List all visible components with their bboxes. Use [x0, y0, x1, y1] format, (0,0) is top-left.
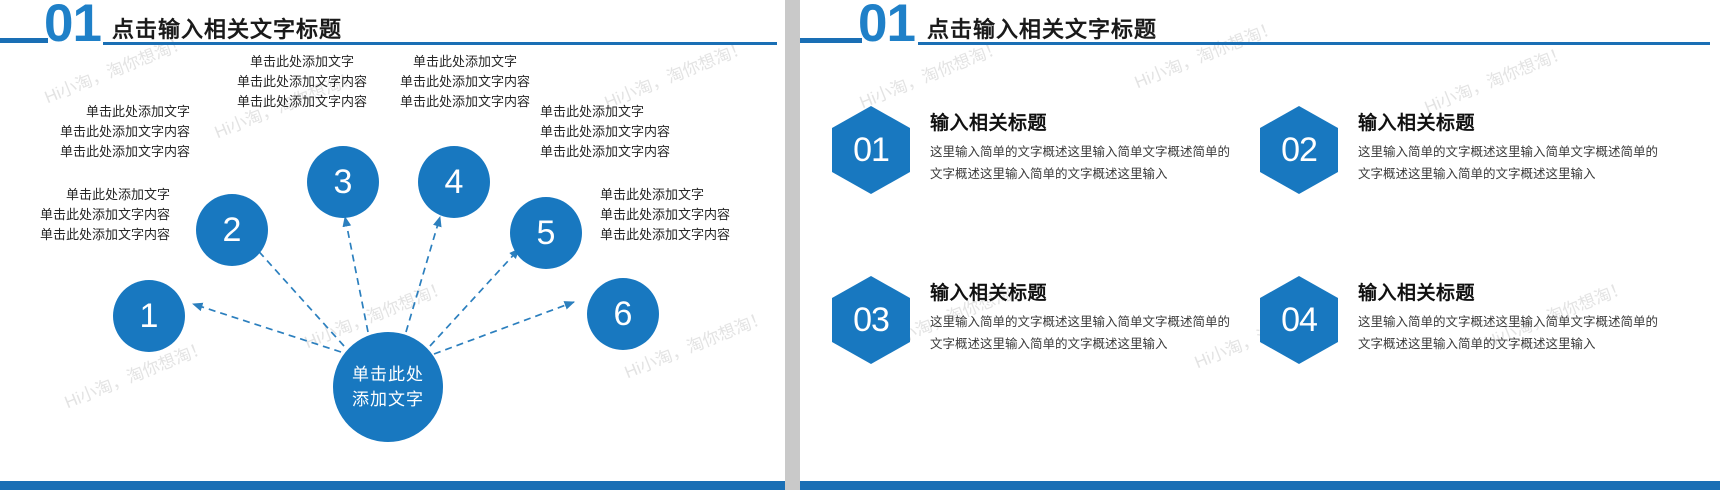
header-dash-icon	[800, 38, 862, 43]
feature-text: 这里输入简单的文字概述这里输入简单文字概述简单的文字概述这里输入简单的文字概述这…	[930, 142, 1240, 186]
diagram-label-5: 单击此处添加文字 单击此处添加文字内容 单击此处添加文字内容	[540, 102, 730, 162]
slide-gutter	[785, 0, 800, 490]
header-rule	[103, 42, 777, 45]
feature-body: 输入相关标题 这里输入简单的文字概述这里输入简单文字概述简单的文字概述这里输入简…	[1358, 108, 1668, 186]
diagram-label-6: 单击此处添加文字 单击此处添加文字内容 单击此处添加文字内容	[600, 185, 785, 245]
label-line-2: 单击此处添加文字内容	[600, 205, 785, 225]
label-line-3: 单击此处添加文字内容	[600, 225, 785, 245]
diagram-hub[interactable]: 单击此处 添加文字	[333, 332, 443, 442]
hexagon-badge: 02	[1260, 106, 1338, 194]
header-rule	[918, 42, 1710, 45]
label-title: 单击此处添加文字	[222, 52, 382, 72]
slide-header: 01 点击输入相关文字标题	[800, 0, 1720, 52]
hub-line-1: 单击此处	[352, 362, 424, 388]
label-line-3: 单击此处添加文字内容	[0, 225, 170, 245]
page-title: 点击输入相关文字标题	[112, 12, 342, 44]
feature-text: 这里输入简单的文字概述这里输入简单文字概述简单的文字概述这里输入简单的文字概述这…	[1358, 142, 1668, 186]
feature-title: 输入相关标题	[1358, 108, 1668, 135]
diagram-node-2[interactable]: 2	[196, 194, 268, 266]
hub-line-2: 添加文字	[352, 387, 424, 413]
slide-deck: Hi小淘，淘你想淘！ Hi小淘，淘你想淘！ Hi小淘，淘你想淘！ Hi小淘，淘你…	[0, 0, 1720, 490]
feature-title: 输入相关标题	[930, 278, 1240, 305]
label-line-3: 单击此处添加文字内容	[10, 142, 190, 162]
feature-text: 这里输入简单的文字概述这里输入简单文字概述简单的文字概述这里输入简单的文字概述这…	[930, 312, 1240, 356]
page-title: 点击输入相关文字标题	[927, 12, 1157, 44]
radial-diagram: 单击此处 添加文字 1 2 3 4 5 6 单击此处添加文字 单击此处添加文字内…	[0, 52, 785, 482]
label-line-2: 单击此处添加文字内容	[385, 72, 545, 92]
diagram-node-4[interactable]: 4	[418, 146, 490, 218]
header-dash-icon	[0, 38, 48, 43]
feature-text: 这里输入简单的文字概述这里输入简单文字概述简单的文字概述这里输入简单的文字概述这…	[1358, 312, 1668, 356]
label-line-2: 单击此处添加文字内容	[10, 122, 190, 142]
label-title: 单击此处添加文字	[10, 102, 190, 122]
label-line-2: 单击此处添加文字内容	[540, 122, 730, 142]
feature-body: 输入相关标题 这里输入简单的文字概述这里输入简单文字概述简单的文字概述这里输入简…	[1358, 278, 1668, 356]
diagram-node-5[interactable]: 5	[510, 197, 582, 269]
label-line-3: 单击此处添加文字内容	[222, 92, 382, 112]
diagram-node-3[interactable]: 3	[307, 146, 379, 218]
slide-left: Hi小淘，淘你想淘！ Hi小淘，淘你想淘！ Hi小淘，淘你想淘！ Hi小淘，淘你…	[0, 0, 785, 490]
feature-body: 输入相关标题 这里输入简单的文字概述这里输入简单文字概述简单的文字概述这里输入简…	[930, 278, 1240, 356]
diagram-label-4: 单击此处添加文字 单击此处添加文字内容 单击此处添加文字内容	[385, 52, 545, 112]
footer-bar	[0, 481, 785, 490]
label-title: 单击此处添加文字	[0, 185, 170, 205]
label-title: 单击此处添加文字	[540, 102, 730, 122]
header-number: 01	[858, 0, 915, 50]
feature-grid: 01 输入相关标题 这里输入简单的文字概述这里输入简单文字概述简单的文字概述这里…	[800, 60, 1720, 460]
feature-title: 输入相关标题	[930, 108, 1240, 135]
header-number: 01	[44, 0, 101, 50]
hexagon-badge: 03	[832, 276, 910, 364]
diagram-label-3: 单击此处添加文字 单击此处添加文字内容 单击此处添加文字内容	[222, 52, 382, 112]
diagram-node-6[interactable]: 6	[587, 278, 659, 350]
hexagon-badge: 04	[1260, 276, 1338, 364]
label-line-2: 单击此处添加文字内容	[0, 205, 170, 225]
label-line-2: 单击此处添加文字内容	[222, 72, 382, 92]
label-line-3: 单击此处添加文字内容	[540, 142, 730, 162]
footer-bar	[800, 481, 1720, 490]
feature-title: 输入相关标题	[1358, 278, 1668, 305]
diagram-label-2: 单击此处添加文字 单击此处添加文字内容 单击此处添加文字内容	[10, 102, 190, 162]
hexagon-badge: 01	[832, 106, 910, 194]
diagram-label-1: 单击此处添加文字 单击此处添加文字内容 单击此处添加文字内容	[0, 185, 170, 245]
label-title: 单击此处添加文字	[600, 185, 785, 205]
label-line-3: 单击此处添加文字内容	[385, 92, 545, 112]
feature-body: 输入相关标题 这里输入简单的文字概述这里输入简单文字概述简单的文字概述这里输入简…	[930, 108, 1240, 186]
label-title: 单击此处添加文字	[385, 52, 545, 72]
diagram-node-1[interactable]: 1	[113, 280, 185, 352]
slide-right: Hi小淘，淘你想淘！ Hi小淘，淘你想淘！ Hi小淘，淘你想淘！ Hi小淘，淘你…	[800, 0, 1720, 490]
slide-header: 01 点击输入相关文字标题	[0, 0, 785, 52]
